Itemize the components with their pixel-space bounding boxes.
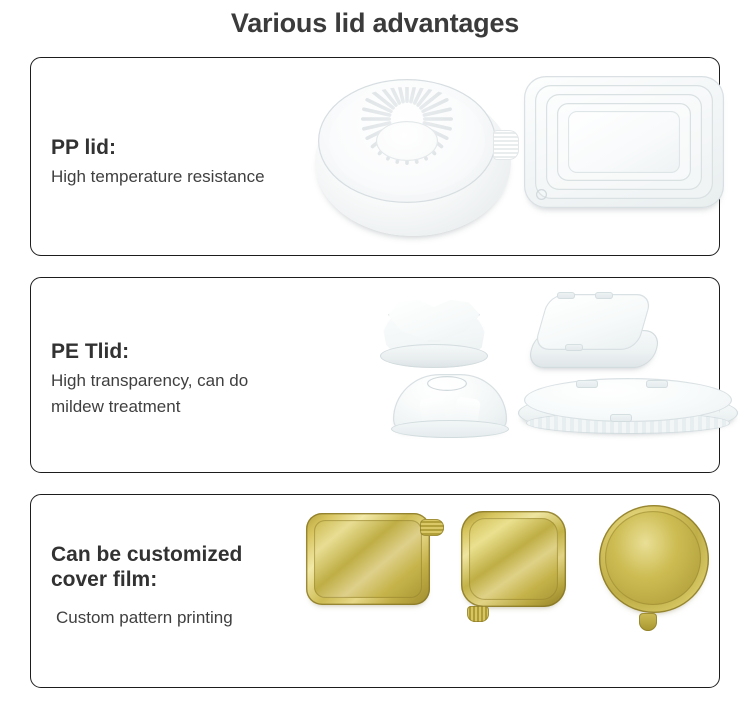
round-lid-rib — [370, 128, 396, 150]
gold-round-foil-lid-image — [599, 505, 713, 621]
round-lid-rib — [395, 134, 405, 164]
round-lid-rim — [318, 79, 496, 203]
round-lid-rib — [365, 97, 394, 113]
round-lid-rib — [362, 121, 392, 131]
oval-lid-skirt — [518, 392, 738, 434]
round-lid-rib — [385, 133, 401, 162]
gold-round-pull-tab — [639, 613, 657, 631]
rect-lid-rib-3 — [557, 103, 691, 181]
card-cover-film: Can be customized cover film: Custom pat… — [30, 494, 720, 688]
gold-rect-inner-panel — [314, 520, 422, 598]
gold-round-body — [599, 505, 709, 613]
oval-lid-notch-2 — [646, 380, 668, 388]
round-lid-rib — [405, 135, 409, 165]
dome-lid-foot-ring — [391, 420, 509, 438]
gold-square-foil-lid-image — [461, 511, 569, 611]
rect-lid-corner-notch — [536, 189, 547, 200]
heart-lid-body — [382, 304, 486, 366]
dome-pe-lid-image — [389, 374, 513, 446]
gold-rect-pull-tab — [420, 519, 444, 536]
oval-lid-notch-1 — [576, 380, 598, 388]
round-lid-rib — [416, 87, 438, 108]
rectangular-pp-lid-image — [524, 76, 734, 231]
round-lid-pull-tab — [493, 130, 519, 160]
round-lid-rib — [421, 97, 450, 113]
square-lid-notch-1 — [557, 292, 575, 299]
round-lid-rib — [377, 87, 399, 108]
square-lid-top-panel — [533, 294, 653, 350]
round-lid-rib — [361, 117, 391, 121]
square-lid-notch-2 — [595, 292, 613, 299]
card-pp-lid: PP lid: High temperature resistance — [30, 57, 720, 256]
rect-lid-rib-1 — [535, 85, 713, 199]
round-lid-ribbed-face — [329, 87, 485, 195]
gold-round-inner-panel — [605, 511, 701, 605]
card-pe-heading: PE Tlid: — [51, 340, 248, 365]
round-lid-rib — [423, 117, 453, 121]
heart-lid-flange — [380, 344, 488, 368]
round-lid-rib — [418, 89, 444, 111]
round-lid-outer-shell — [315, 88, 511, 236]
round-lid-rib — [412, 87, 428, 105]
gold-square-pull-tab — [467, 606, 489, 622]
round-lid-rib — [395, 87, 405, 104]
gold-rectangular-foil-lid-image — [306, 513, 430, 605]
round-lid-rib — [409, 134, 419, 164]
round-lid-rib — [370, 89, 396, 111]
card-cover-film-heading: Can be customized cover film: — [51, 543, 242, 593]
page-title: Various lid advantages — [0, 8, 750, 39]
gold-square-body — [461, 511, 566, 607]
round-lid-rib — [409, 87, 419, 104]
card-pp-text-block: PP lid: High temperature resistance — [51, 136, 265, 190]
square-lid-notch-3 — [565, 344, 583, 351]
oval-pe-lid-image — [518, 378, 740, 442]
card-pe-text-block: PE Tlid: High transparency, can do milde… — [51, 340, 248, 420]
oval-lid-notch-3 — [610, 414, 632, 422]
round-lid-rib — [405, 87, 409, 103]
dome-lid-segment-left — [419, 396, 447, 427]
round-lid-rib — [422, 121, 452, 131]
heart-pe-lid-image — [376, 296, 496, 382]
round-lid-rib — [418, 128, 444, 150]
square-pe-lid-image — [531, 292, 661, 380]
round-lid-rib — [362, 107, 392, 117]
round-lid-rib — [412, 133, 428, 162]
dome-lid-straw-hole — [427, 376, 467, 391]
rect-lid-body — [524, 76, 724, 208]
card-pp-subtitle: High temperature resistance — [51, 164, 265, 190]
dome-lid-cap — [393, 374, 507, 432]
dome-lid-segment-right — [453, 396, 481, 427]
round-lid-rib — [377, 130, 399, 156]
gold-square-inner-panel — [469, 518, 558, 600]
round-lid-rib — [422, 107, 452, 117]
round-pp-lid-image — [309, 66, 517, 248]
round-lid-rib — [416, 130, 438, 156]
card-cover-film-subtitle: Custom pattern printing — [56, 605, 242, 631]
card-pp-heading: PP lid: — [51, 136, 265, 161]
round-lid-rib — [365, 124, 394, 140]
square-lid-flange — [526, 330, 663, 368]
rect-lid-rib-2 — [546, 94, 702, 190]
round-lid-rib — [385, 87, 401, 105]
round-lid-center-oval — [376, 121, 438, 161]
card-pe-lid: PE Tlid: High transparency, can do milde… — [30, 277, 720, 473]
oval-lid-top-panel — [524, 378, 732, 422]
rect-lid-center-panel — [568, 111, 680, 173]
card-cover-film-text-block: Can be customized cover film: Custom pat… — [51, 543, 242, 631]
heart-lid-top-panel — [388, 298, 480, 342]
card-pe-subtitle: High transparency, can do mildew treatme… — [51, 368, 248, 421]
round-lid-rib — [421, 124, 450, 140]
oval-lid-base-ring — [526, 412, 730, 434]
